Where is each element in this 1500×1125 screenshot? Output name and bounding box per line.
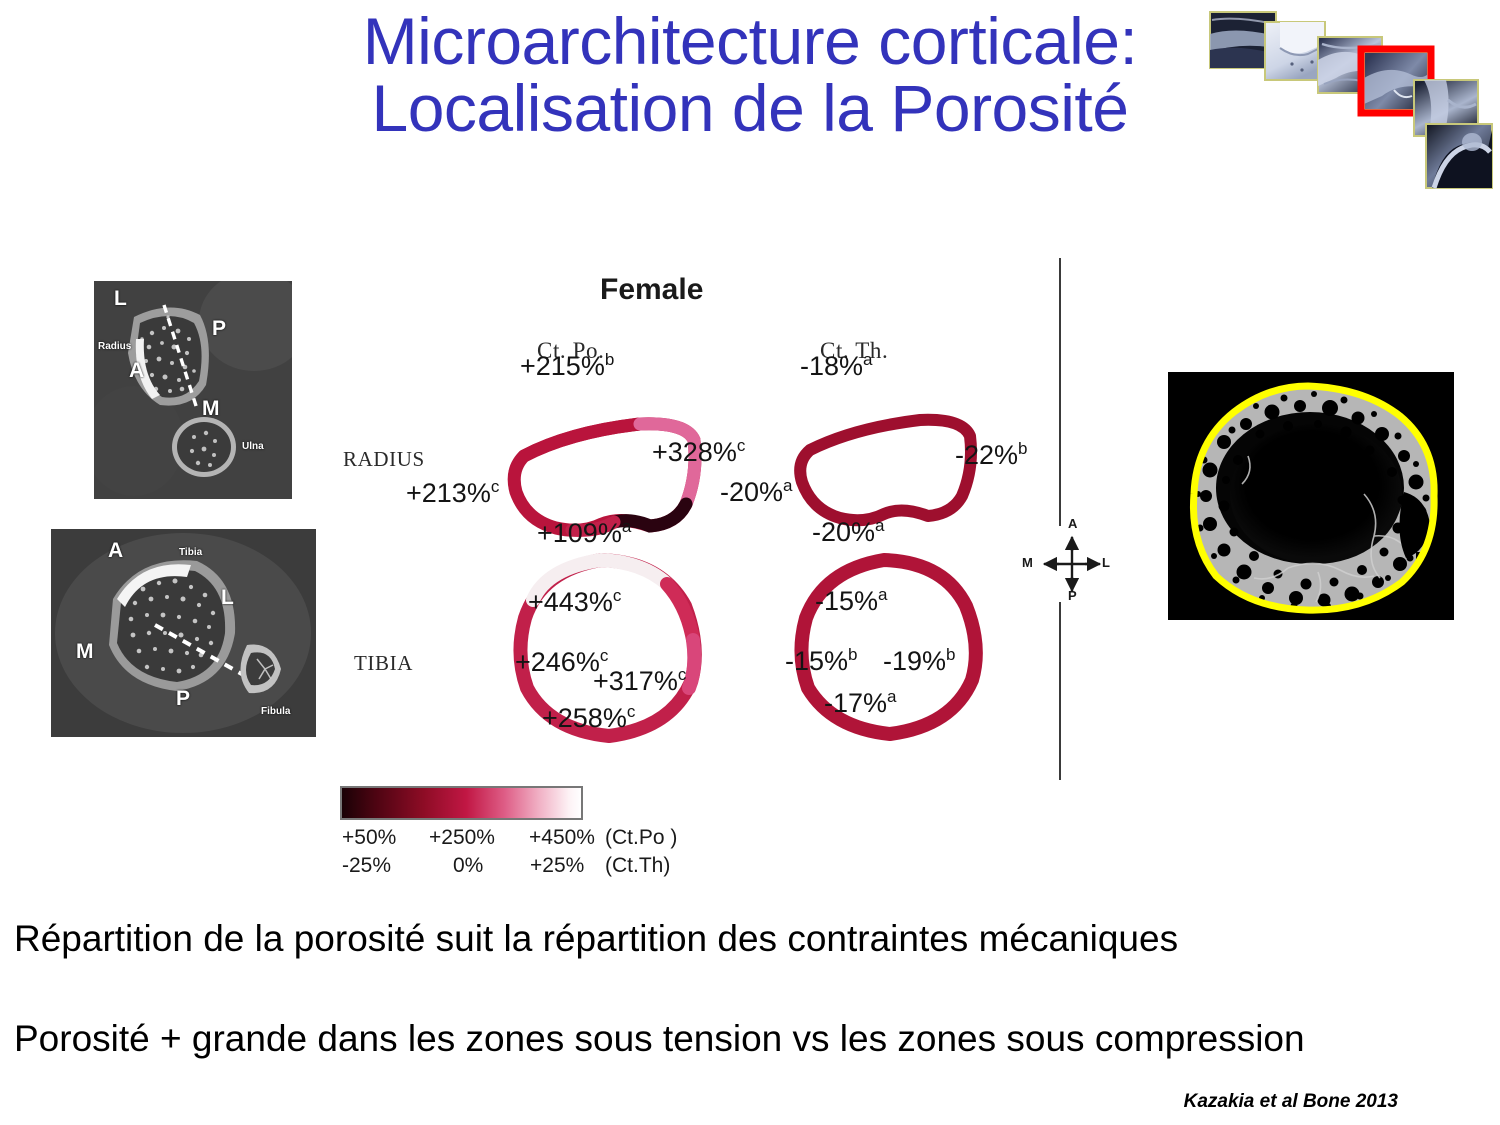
row-header-tibia: TIBIA: [354, 651, 413, 676]
ctpo-tick-mid: +250%: [429, 826, 495, 850]
radius-ctpo-left: +213%c: [406, 478, 499, 509]
compass-anterior: A: [1068, 516, 1077, 531]
bone-section-panel: [1168, 372, 1454, 620]
orientation-compass: A P M L: [1038, 528, 1106, 600]
figure-divider-lower: [1059, 602, 1061, 780]
tibia-ct-panel: A L M P Tibia Fibula: [51, 529, 316, 737]
ctth-unit-label: (Ct.Th): [605, 854, 670, 878]
radius-ctth-bottom: -20%a: [812, 517, 885, 548]
cascade-frame-2: [1265, 22, 1325, 80]
radius-label-lateral: L: [114, 287, 127, 311]
radius-ctpo-bottom: +109%a: [537, 518, 631, 549]
compass-lateral: L: [1102, 555, 1110, 570]
tibia-label-bone-tibia: Tibia: [179, 547, 202, 558]
ctth-tick-low: -25%: [342, 854, 391, 878]
body-line-1: Répartition de la porosité suit la répar…: [14, 918, 1178, 960]
cascade-frame-6: [1426, 124, 1492, 188]
tibia-ctpo-top: +443%c: [528, 587, 621, 618]
radius-ctpo-top: +215%b: [520, 351, 614, 382]
radius-label-posterior: P: [212, 317, 226, 341]
tibia-label-anterior: A: [108, 539, 123, 563]
figure-divider-upper: [1059, 258, 1061, 526]
bone-imaging-cascade: [1196, 4, 1496, 196]
ctpo-tick-low: +50%: [342, 826, 396, 850]
radius-label-bone-radius: Radius: [98, 341, 131, 352]
tibia-label-medial: M: [76, 640, 94, 664]
ctth-tick-mid: 0%: [453, 854, 483, 878]
body-line-2: Porosité + grande dans les zones sous te…: [14, 1018, 1305, 1060]
radius-ctth-right: -22%b: [955, 440, 1028, 471]
compass-medial: M: [1022, 555, 1033, 570]
ctth-tick-high: +25%: [530, 854, 584, 878]
tibia-ctpo-right: +317%c: [593, 666, 686, 697]
ctpo-unit-label: (Ct.Po ): [605, 826, 677, 850]
tibia-ctth-top: -15%a: [815, 586, 888, 617]
compass-posterior: P: [1068, 588, 1077, 603]
tibia-ctth-right: -19%b: [883, 646, 956, 677]
tibia-ctth-bottom: -17%a: [824, 688, 897, 719]
radius-ctth-left: -20%a: [720, 477, 793, 508]
tibia-label-posterior: P: [176, 687, 190, 711]
radius-label-medial: M: [202, 397, 220, 421]
ctpo-tick-high: +450%: [529, 826, 595, 850]
tibia-label-bone-fibula: Fibula: [261, 706, 290, 717]
radius-ctth-top: -18%a: [800, 351, 873, 382]
tibia-ctpo-bottom: +258%c: [542, 703, 635, 734]
citation-reference: Kazakia et al Bone 2013: [1184, 1091, 1398, 1113]
radius-label-anterior: A: [129, 359, 144, 383]
tibia-ctth-left: -15%b: [785, 646, 858, 677]
cascade-svg: [1196, 4, 1496, 196]
figure-header-female: Female: [600, 273, 703, 307]
tibia-label-lateral: L: [221, 586, 234, 610]
radius-ct-panel: L P A M Radius Ulna: [94, 281, 292, 499]
cortical-bone-section-image: [1168, 372, 1454, 620]
radius-ct-image: [94, 281, 292, 499]
radius-ctpo-right: +328%c: [652, 437, 745, 468]
radius-label-bone-ulna: Ulna: [242, 441, 264, 452]
colorbar-legend: +50% +250% +450% (Ct.Po ) -25% 0% +25% (…: [340, 786, 690, 820]
colorbar-gradient: [340, 786, 583, 820]
row-header-radius: RADIUS: [343, 447, 425, 472]
